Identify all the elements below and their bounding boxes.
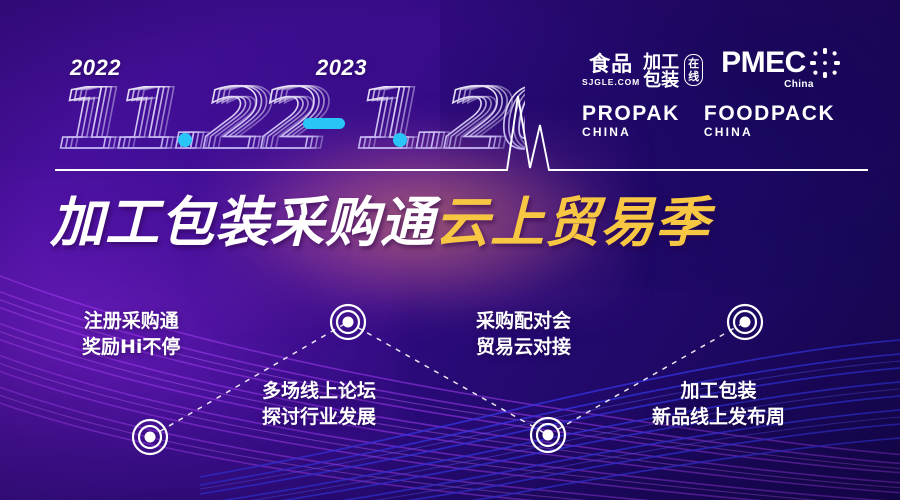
node-label-4: 加工包装 新品线上发布周 bbox=[652, 378, 785, 430]
node-marker-4 bbox=[728, 305, 762, 339]
node-3-line-2: 贸易云对接 bbox=[476, 334, 571, 360]
node-4-line-1: 加工包装 bbox=[652, 378, 785, 404]
node-1-line-1: 注册采购通 bbox=[82, 308, 180, 334]
node-label-1: 注册采购通 奖励Hi不停 bbox=[82, 308, 180, 360]
node-marker-3 bbox=[531, 418, 565, 452]
node-1-line-2: 奖励Hi不停 bbox=[82, 334, 180, 360]
promo-banner: 2022 2023 11.22 11.22 11.22 11.22 11.22 bbox=[0, 0, 900, 500]
node-3-line-1: 采购配对会 bbox=[476, 308, 571, 334]
node-4-line-2: 新品线上发布周 bbox=[652, 404, 785, 430]
node-label-3: 采购配对会 贸易云对接 bbox=[476, 308, 571, 360]
node-marker-2 bbox=[331, 305, 365, 339]
node-2-line-2: 探讨行业发展 bbox=[262, 404, 376, 430]
node-label-2: 多场线上论坛 探讨行业发展 bbox=[262, 378, 376, 430]
node-marker-1 bbox=[133, 420, 167, 454]
node-2-line-1: 多场线上论坛 bbox=[262, 378, 376, 404]
